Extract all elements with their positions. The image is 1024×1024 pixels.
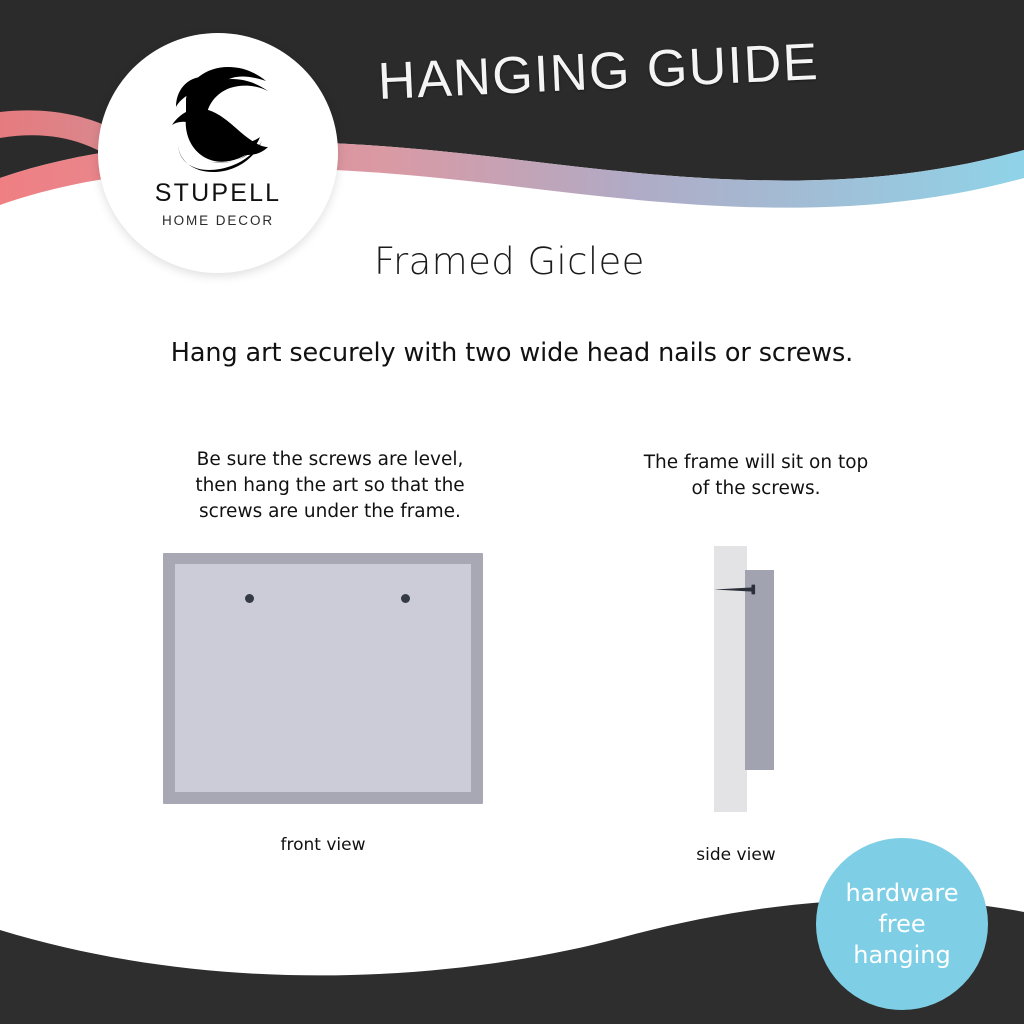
hanging-guide-page: HANGING GUIDE STUPELL HOME DECOR Framed … (0, 0, 1024, 1024)
front-view-label: front view (203, 835, 443, 855)
side-view-diagram (706, 546, 816, 816)
screw-dot-left (245, 594, 254, 603)
front-caption-line-3: screws are under the frame. (150, 499, 510, 525)
side-caption-line-2: of the screws. (596, 476, 916, 502)
front-view-diagram (163, 553, 483, 804)
side-caption-line-1: The frame will sit on top (596, 450, 916, 476)
front-caption-line-2: then hang the art so that the (150, 473, 510, 499)
front-caption-line-1: Be sure the screws are level, (150, 447, 510, 473)
front-view-mat (175, 564, 471, 792)
screw-dot-right (401, 594, 410, 603)
side-view-caption: The frame will sit on top of the screws. (596, 450, 916, 502)
stupell-swoosh-icon (162, 55, 274, 173)
brand-logo-badge: STUPELL HOME DECOR (98, 33, 338, 273)
side-view-label: side view (651, 845, 821, 865)
badge-line-1: hardware (845, 878, 958, 909)
brand-wordmark: STUPELL (155, 179, 282, 208)
hardware-free-badge: hardware free hanging (816, 838, 988, 1010)
product-name: Framed Giclee (374, 240, 645, 283)
nail-icon (713, 584, 761, 595)
page-title: HANGING GUIDE (377, 32, 821, 112)
badge-line-3: hanging (853, 940, 950, 971)
main-instruction-text: Hang art securely with two wide head nai… (0, 338, 1024, 368)
badge-line-2: free (878, 909, 925, 940)
brand-tagline: HOME DECOR (162, 213, 274, 228)
side-view-frame (745, 570, 774, 770)
front-view-caption: Be sure the screws are level, then hang … (150, 447, 510, 525)
